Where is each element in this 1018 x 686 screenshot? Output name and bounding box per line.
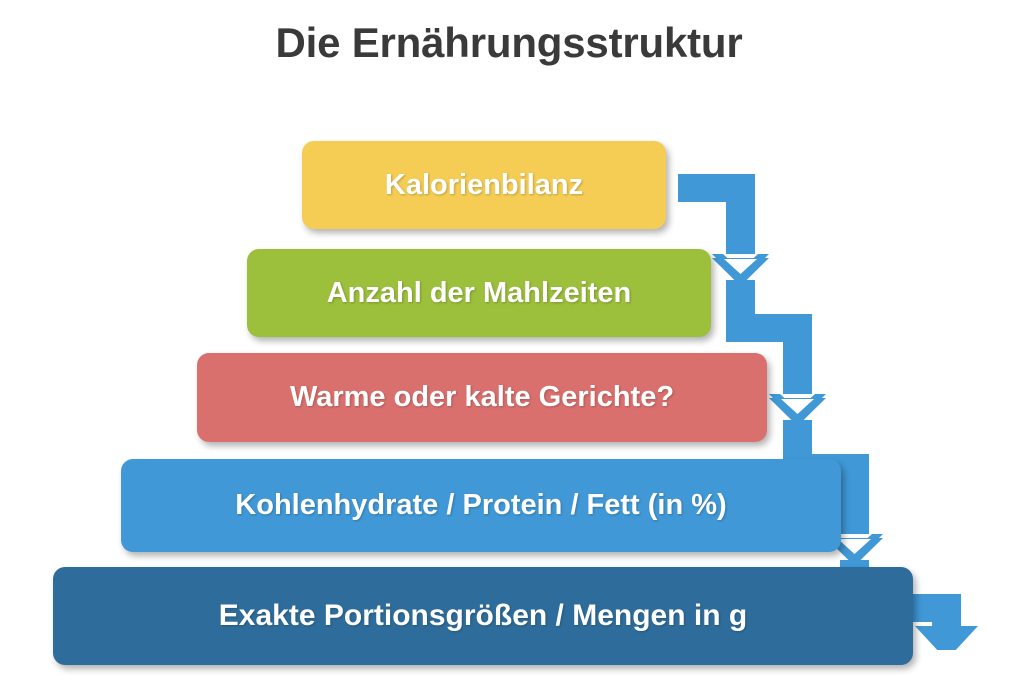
pyramid-level-warme-oder-kalte-gerichte[interactable]: Warme oder kalte Gerichte? [197,353,767,442]
pyramid-level-exakte-portionsgroessen[interactable]: Exakte Portionsgrößen / Mengen in g [53,567,913,665]
pyramid-level-kohlenhydrate-protein-fett[interactable]: Kohlenhydrate / Protein / Fett (in %) [121,459,841,552]
pyramid-level-label: Warme oder kalte Gerichte? [211,381,753,414]
pyramid-level-label: Anzahl der Mahlzeiten [261,277,697,310]
pyramid-level-anzahl-der-mahlzeiten[interactable]: Anzahl der Mahlzeiten [247,249,711,337]
pyramid-level-kalorienbilanz[interactable]: Kalorienbilanz [302,141,666,229]
page-title: Die Ernährungsstruktur [0,18,1018,68]
pyramid-level-label: Exakte Portionsgrößen / Mengen in g [67,599,899,633]
pyramid-level-label: Kalorienbilanz [316,169,652,202]
slide-canvas: Die Ernährungsstruktur [0,0,1018,686]
pyramid-level-label: Kohlenhydrate / Protein / Fett (in %) [135,489,827,522]
